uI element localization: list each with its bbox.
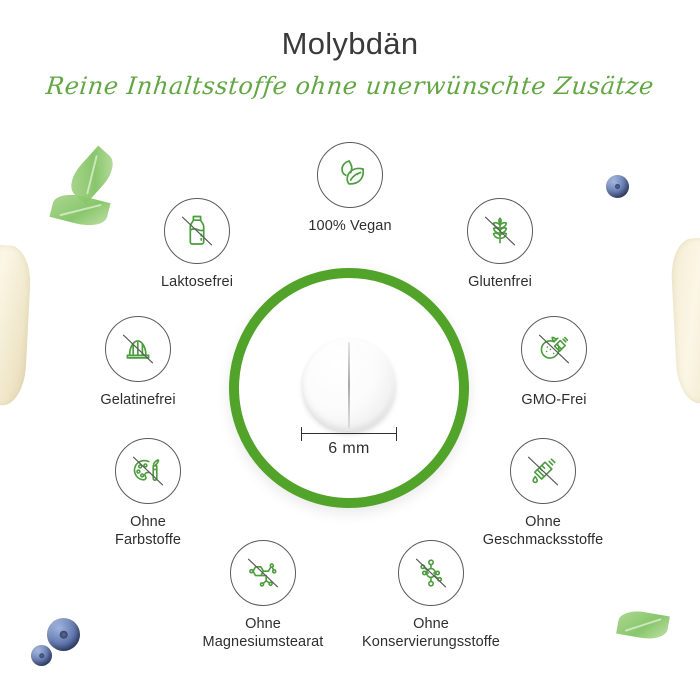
page-title: Molybdän bbox=[0, 26, 700, 62]
leaf-decoration-icon bbox=[63, 146, 120, 205]
badge-label: Ohne Magnesiumstearat bbox=[188, 615, 338, 651]
size-caliper-icon bbox=[301, 427, 397, 441]
tablet-score-line bbox=[348, 342, 350, 428]
badge-label: Gelatinefrei bbox=[63, 391, 213, 409]
leaf-decoration-icon bbox=[616, 608, 670, 642]
badge-label: 100% Vegan bbox=[275, 217, 425, 235]
badge-no-preservatives[interactable]: Ohne Konservierungsstoffe bbox=[356, 540, 506, 651]
badge-circle bbox=[317, 142, 383, 208]
badge-gluten-free[interactable]: Glutenfrei bbox=[425, 198, 575, 291]
badge-circle bbox=[521, 316, 587, 382]
tablet-size-label: 6 mm bbox=[281, 440, 417, 458]
fruit-syringe-icon bbox=[532, 327, 576, 371]
badge-circle bbox=[105, 316, 171, 382]
blueberry-decoration-icon bbox=[606, 175, 629, 198]
badge-circle bbox=[398, 540, 464, 606]
badge-label: GMO-Frei bbox=[479, 391, 629, 409]
badge-label: Ohne Geschmacksstoffe bbox=[468, 513, 618, 549]
badge-no-colorants[interactable]: Ohne Farbstoffe bbox=[73, 438, 223, 549]
badge-gmo-free[interactable]: GMO-Frei bbox=[479, 316, 629, 409]
molecule-star-icon bbox=[409, 551, 453, 595]
wheat-stalk-icon bbox=[478, 209, 522, 253]
infographic-canvas: Molybdän Reine Inhaltsstoffe ohne unerwü… bbox=[0, 0, 700, 700]
badge-circle bbox=[467, 198, 533, 264]
badge-no-flavorings[interactable]: Ohne Geschmacksstoffe bbox=[468, 438, 618, 549]
banana-decoration-icon bbox=[0, 244, 32, 407]
milk-bottle-icon bbox=[175, 209, 219, 253]
molecule-ring-icon bbox=[241, 551, 285, 595]
paint-palette-icon bbox=[126, 449, 170, 493]
badge-label: Laktosefrei bbox=[122, 273, 272, 291]
jelly-mold-icon bbox=[116, 327, 160, 371]
badge-label: Glutenfrei bbox=[425, 273, 575, 291]
badge-vegan[interactable]: 100% Vegan bbox=[275, 142, 425, 235]
badge-circle bbox=[164, 198, 230, 264]
leaf-decoration-icon bbox=[49, 190, 110, 231]
leaf-pair-icon bbox=[330, 155, 370, 195]
tablet-image bbox=[303, 339, 395, 431]
badge-label: Ohne Konservierungsstoffe bbox=[356, 615, 506, 651]
blueberry-decoration-icon bbox=[31, 645, 52, 666]
syringe-icon bbox=[521, 449, 565, 493]
badge-gelatin-free[interactable]: Gelatinefrei bbox=[63, 316, 213, 409]
badge-lactose-free[interactable]: Laktosefrei bbox=[122, 198, 272, 291]
badge-circle bbox=[115, 438, 181, 504]
blueberry-decoration-icon bbox=[47, 618, 80, 651]
page-subtitle: Reine Inhaltsstoffe ohne unerwünschte Zu… bbox=[0, 72, 700, 100]
badge-no-magnesium-stearate[interactable]: Ohne Magnesiumstearat bbox=[188, 540, 338, 651]
banana-decoration-icon bbox=[670, 237, 700, 405]
badge-circle bbox=[230, 540, 296, 606]
badge-circle bbox=[510, 438, 576, 504]
